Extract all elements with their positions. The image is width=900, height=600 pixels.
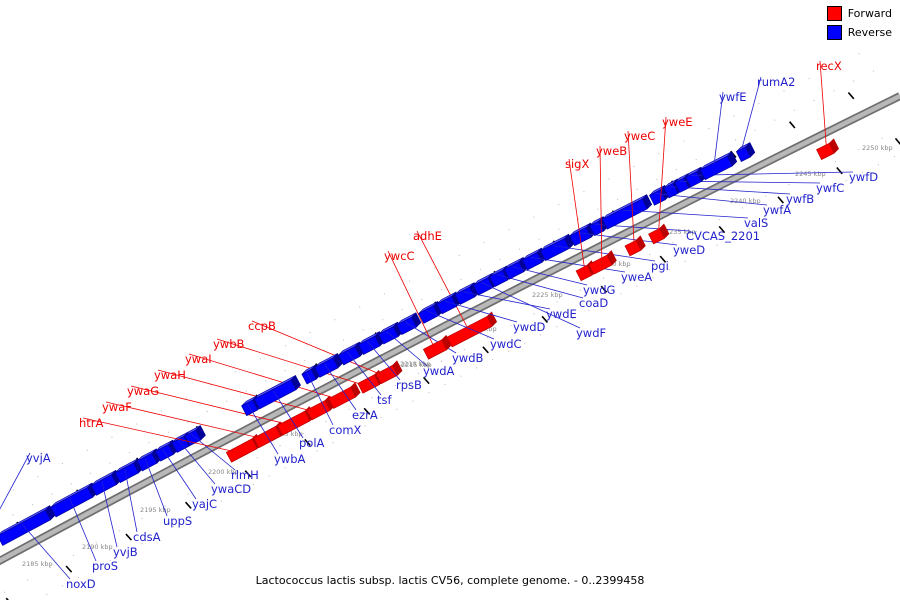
ruler-mark: 2250 kbp — [862, 144, 893, 152]
gene-label[interactable]: ywdB — [452, 351, 484, 365]
gene-label[interactable]: ywdE — [546, 307, 577, 321]
ruler-mark: 2225 kbp — [532, 291, 563, 299]
gene-label[interactable]: yweE — [662, 115, 693, 129]
gene-label[interactable]: ccpB — [248, 319, 276, 333]
gene-feature[interactable]: ywfE — [700, 90, 746, 180]
gene-label[interactable]: ezrA — [352, 408, 378, 422]
gene-label[interactable]: proS — [92, 559, 118, 573]
gene-label[interactable]: ywdG — [583, 283, 615, 297]
gene-label[interactable]: uppS — [163, 514, 192, 528]
legend-label-reverse: Reverse — [848, 26, 892, 39]
gene-label[interactable]: rlmH — [231, 468, 259, 482]
gene-label[interactable]: yajC — [192, 497, 217, 511]
legend-swatch-reverse — [827, 25, 842, 40]
gene-label[interactable]: sigX — [565, 157, 589, 171]
gene-label[interactable]: CVCAS_2201 — [686, 229, 760, 243]
figure-caption: Lactococcus lactis subsp. lactis CV56, c… — [0, 574, 900, 587]
legend-item-reverse[interactable]: Reverse — [827, 25, 892, 40]
genome-canvas[interactable]: 2185 kbp2190 kbp2195 kbp2200 kbp2205 kbp… — [0, 0, 900, 600]
gene-label[interactable]: yweB — [596, 144, 627, 158]
gene-feature[interactable]: ywdB — [397, 313, 484, 365]
gene-label[interactable]: ywdC — [490, 337, 522, 351]
gene-label[interactable]: ywfB — [786, 192, 814, 206]
gene-label[interactable]: ywaH — [154, 368, 186, 382]
gene-label[interactable]: ywaF — [102, 400, 132, 414]
gene-label[interactable]: coaD — [579, 296, 608, 310]
gene-label[interactable]: ywfC — [816, 181, 844, 195]
gene-label[interactable]: ywdA — [423, 364, 455, 378]
ruler-mark: 2190 kbp — [82, 543, 113, 551]
gene-label[interactable]: yvjA — [26, 451, 51, 465]
gene-label[interactable]: ywaG — [127, 384, 159, 398]
gene-label[interactable]: comX — [329, 423, 362, 437]
gene-label[interactable]: yweD — [673, 243, 705, 257]
gene-label[interactable]: ywbA — [274, 452, 306, 466]
gene-label[interactable]: ywdD — [513, 320, 546, 334]
gene-label[interactable]: pgi — [651, 259, 669, 273]
gene-label[interactable]: ywaCD — [211, 482, 251, 496]
gene-label[interactable]: yweA — [621, 270, 652, 284]
legend-swatch-forward — [827, 6, 842, 21]
legend: Forward Reverse — [827, 6, 892, 44]
genome-diagram: 2185 kbp2190 kbp2195 kbp2200 kbp2205 kbp… — [0, 0, 900, 600]
gene-label[interactable]: rpsB — [396, 378, 422, 392]
ruler-mark: 2185 kbp — [22, 560, 53, 568]
legend-label-forward: Forward — [848, 7, 892, 20]
gene-feature[interactable]: cdsA — [115, 459, 161, 544]
gene-label[interactable]: adhE — [413, 229, 442, 243]
gene-label[interactable]: ywbB — [213, 337, 245, 351]
gene-label[interactable]: ywcC — [384, 249, 415, 263]
gene-label[interactable]: yweC — [624, 129, 655, 143]
gene-label[interactable]: ywfE — [719, 90, 747, 104]
gene-label[interactable]: rumA2 — [757, 75, 795, 89]
gene-label[interactable]: recX — [816, 59, 842, 73]
gene-label[interactable]: tsf — [377, 393, 393, 407]
gene-label[interactable]: yvjB — [113, 545, 138, 559]
ruler-mark: 2245 kbp — [795, 170, 826, 178]
gene-label[interactable]: ywdF — [576, 326, 606, 340]
gene-label[interactable]: htrA — [79, 416, 104, 430]
gene-label[interactable]: polA — [299, 436, 325, 450]
gene-label[interactable]: ywfD — [849, 170, 878, 184]
gene-label[interactable]: ywaI — [185, 352, 212, 366]
gene-label[interactable]: valS — [744, 216, 768, 230]
legend-item-forward[interactable]: Forward — [827, 6, 892, 21]
gene-feature[interactable]: recX — [816, 59, 842, 160]
gene-label[interactable]: cdsA — [133, 530, 161, 544]
